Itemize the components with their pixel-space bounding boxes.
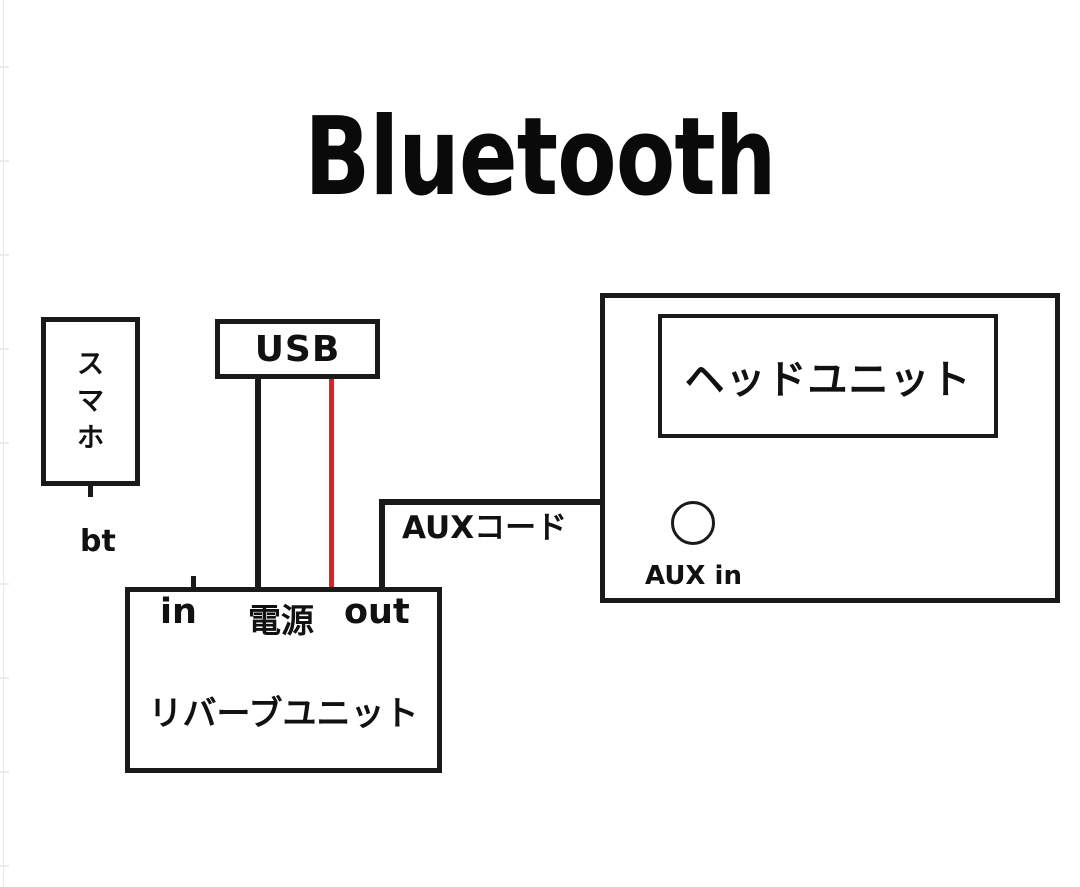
margin-tick — [0, 160, 9, 162]
margin-tick — [0, 254, 9, 256]
reverb-port-out-label: out — [344, 592, 410, 632]
margin-tick — [0, 677, 9, 679]
aux-cord-wire-vertical — [379, 502, 385, 590]
smartphone-block: ス マ ホ — [41, 317, 140, 486]
aux-cord-label: AUXコード — [402, 502, 567, 547]
diagram-canvas: Bluetooth ス マ ホ bt USB in 電源 out リバーブユニッ… — [0, 0, 1080, 887]
head-unit-screen: ヘッドユニット — [658, 314, 998, 438]
smartphone-label-char-2: マ — [77, 383, 104, 420]
margin-tick — [0, 442, 9, 444]
margin-tick — [0, 66, 9, 68]
margin-tick — [0, 771, 9, 773]
bluetooth-connection-label: bt — [80, 524, 116, 559]
diagram-title: Bluetooth — [108, 104, 972, 212]
aux-in-label: AUX in — [645, 561, 742, 591]
smartphone-label-stack: ス マ ホ — [46, 322, 135, 481]
reverb-port-power-label: 電源 — [248, 594, 314, 642]
usb-power-wire — [329, 376, 334, 590]
usb-block: USB — [215, 319, 380, 379]
margin-tick — [0, 348, 9, 350]
head-unit-label: ヘッドユニット — [662, 318, 994, 434]
usb-data-wire — [255, 376, 261, 590]
smartphone-label-char-1: ス — [77, 346, 104, 383]
margin-tick — [0, 583, 9, 585]
reverb-unit-name-label: リバーブユニット — [125, 686, 442, 735]
smartphone-label-char-3: ホ — [77, 420, 104, 457]
margin-tick — [0, 865, 9, 867]
usb-label: USB — [220, 324, 375, 374]
reverb-port-in-label: in — [160, 592, 197, 632]
aux-in-jack-icon — [671, 501, 715, 545]
